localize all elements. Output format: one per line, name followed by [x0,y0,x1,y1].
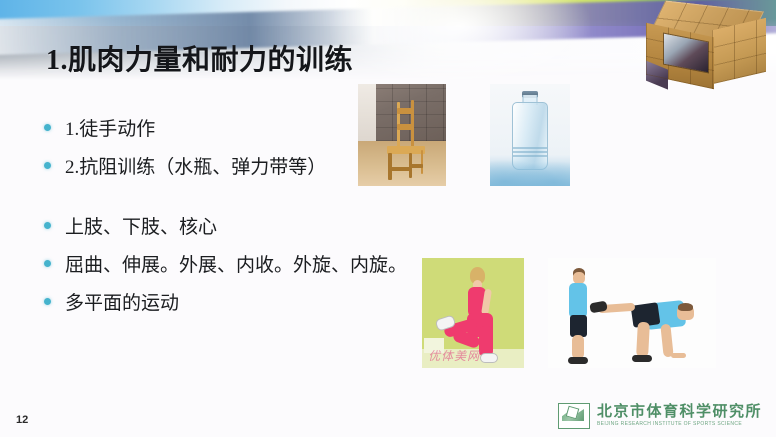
logo-english-name: BEIJING RESEARCH INSTITUTE OF SPORTS SCI… [597,422,762,427]
bullet-label: 1.徒手动作 [65,114,155,141]
man2-support-leg [636,322,650,358]
page-number: 12 [16,414,28,426]
chair-object [383,100,431,180]
man1-legs [572,335,584,359]
water-splash [490,155,570,186]
presentation-slide: 1.肌肉力量和耐力的训练 1.徒手动作 2.抗阻训练（水瓶、弹力带等） 上肢、下… [0,0,776,437]
list-item: 屈曲、伸展。外展、内收。外旋、内旋。 [44,244,464,282]
man2-hand [671,353,686,359]
man1-shorts [570,315,587,337]
chair-photo-side-panel [358,84,376,141]
man2-hair [678,303,693,311]
men-exercise-photo [548,258,716,368]
bullet-dot-icon [44,260,51,267]
bullet-label: 多平面的运动 [65,288,179,315]
bullet-label: 2.抗阻训练（水瓶、弹力带等） [65,152,326,179]
water-bottle-photo [490,84,570,186]
bullet-label: 屈曲、伸展。外展、内收。外旋、内旋。 [65,250,407,277]
page-title: 1.肌肉力量和耐力的训练 [46,38,353,78]
image-watermark: 优体美网 [428,347,480,364]
institute-logo: 北京市体育科学研究所 BEIJING RESEARCH INSTITUTE OF… [558,403,762,429]
bullet-dot-icon [44,124,51,131]
bottle-rib [513,151,547,153]
list-item: 多平面的运动 [44,282,464,320]
man1-shirt [569,283,587,318]
cube-right-grid [712,18,766,84]
cube-graphic [640,4,776,90]
woman-shoe [480,353,498,364]
cube-right-face [712,18,766,84]
bullet-dot-icon [44,162,51,169]
man2-shoe [632,355,652,363]
chair-photo [358,84,446,186]
band-light-glow [330,0,590,86]
man1-shoe [568,357,588,364]
list-item: 上肢、下肢、核心 [44,206,464,244]
logo-chinese-name: 北京市体育科学研究所 [597,405,762,420]
bullet-dot-icon [44,222,51,229]
logo-text-block: 北京市体育科学研究所 BEIJING RESEARCH INSTITUTE OF… [597,405,762,427]
bullet-dot-icon [44,298,51,305]
bullet-label: 上肢、下肢、核心 [65,212,217,239]
woman-lunge-photo: 优体美网 [422,258,524,368]
bottle-rib [513,147,547,149]
logo-mark-icon [558,403,590,429]
